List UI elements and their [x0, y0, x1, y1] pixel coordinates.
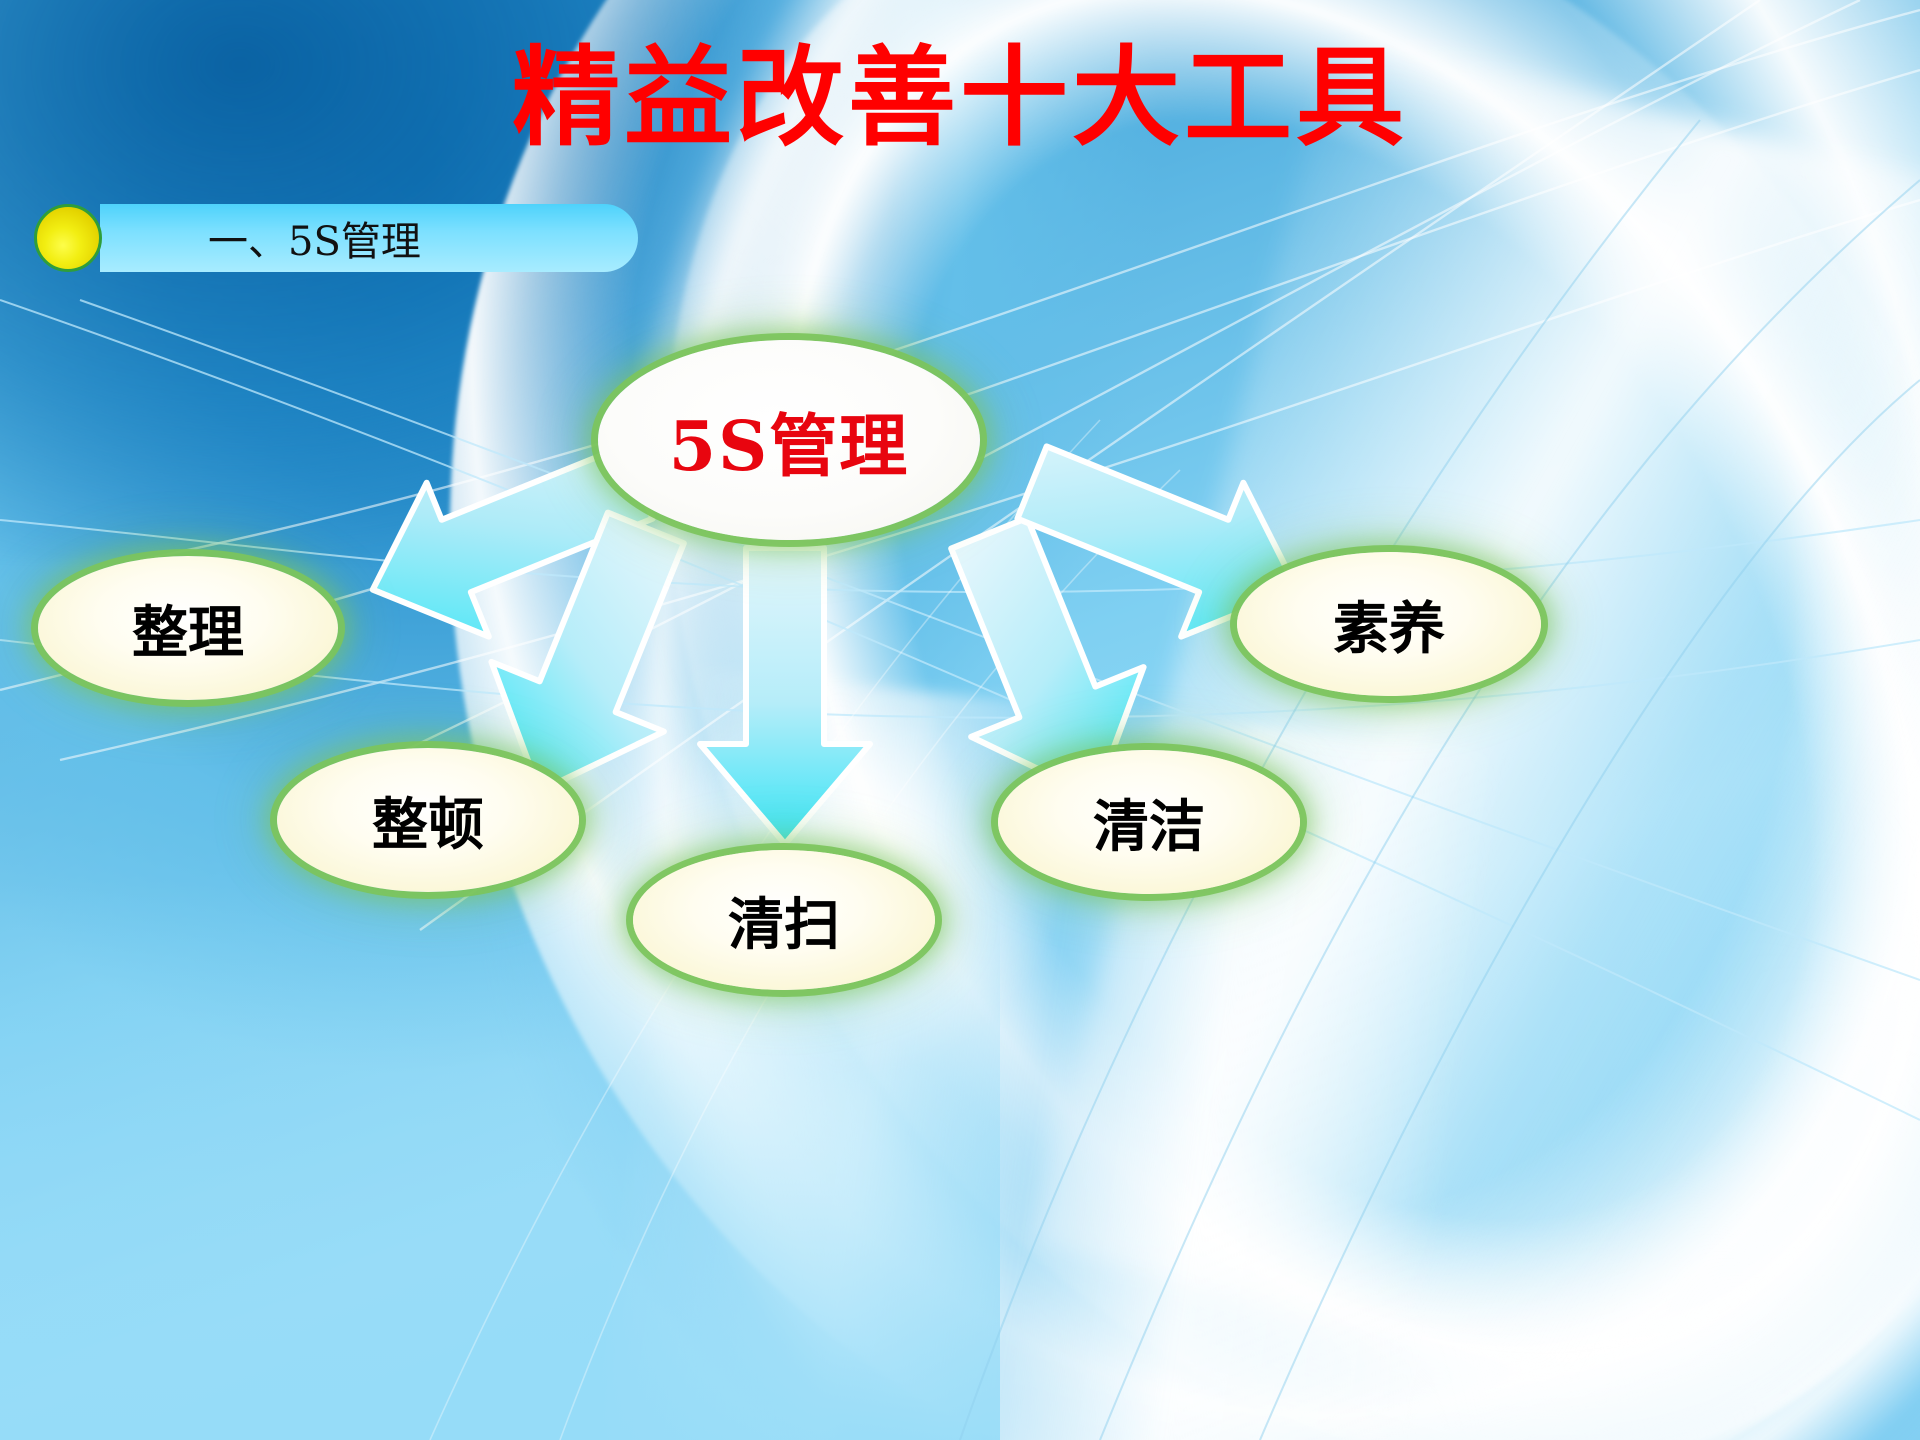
- node-label: 清洁: [1093, 782, 1205, 863]
- node-label: 整理: [132, 588, 244, 669]
- node-label: 整顿: [372, 780, 484, 861]
- node-center-label: 5S管理: [669, 391, 909, 490]
- node-label: 清扫: [728, 880, 840, 961]
- node-qingjie[interactable]: 清洁: [998, 750, 1300, 894]
- arrow-to-qingsao: [690, 548, 880, 848]
- section-header[interactable]: 一、5S管理: [28, 200, 638, 276]
- yellow-sphere-bullet-icon: [34, 204, 102, 272]
- section-label: 一、5S管理: [208, 200, 421, 276]
- node-zhengli[interactable]: 整理: [38, 556, 338, 700]
- node-suyang[interactable]: 素养: [1237, 552, 1541, 696]
- arrow-to-suyang: [1002, 456, 1302, 716]
- slide-canvas: 精益改善十大工具 一、5S管理: [0, 0, 1920, 1440]
- node-center-5s[interactable]: 5S管理: [598, 340, 980, 540]
- page-title: 精益改善十大工具: [0, 36, 1920, 160]
- node-label: 素养: [1333, 584, 1445, 665]
- node-qingsao[interactable]: 清扫: [633, 850, 935, 990]
- node-zhengdun[interactable]: 整顿: [277, 748, 579, 892]
